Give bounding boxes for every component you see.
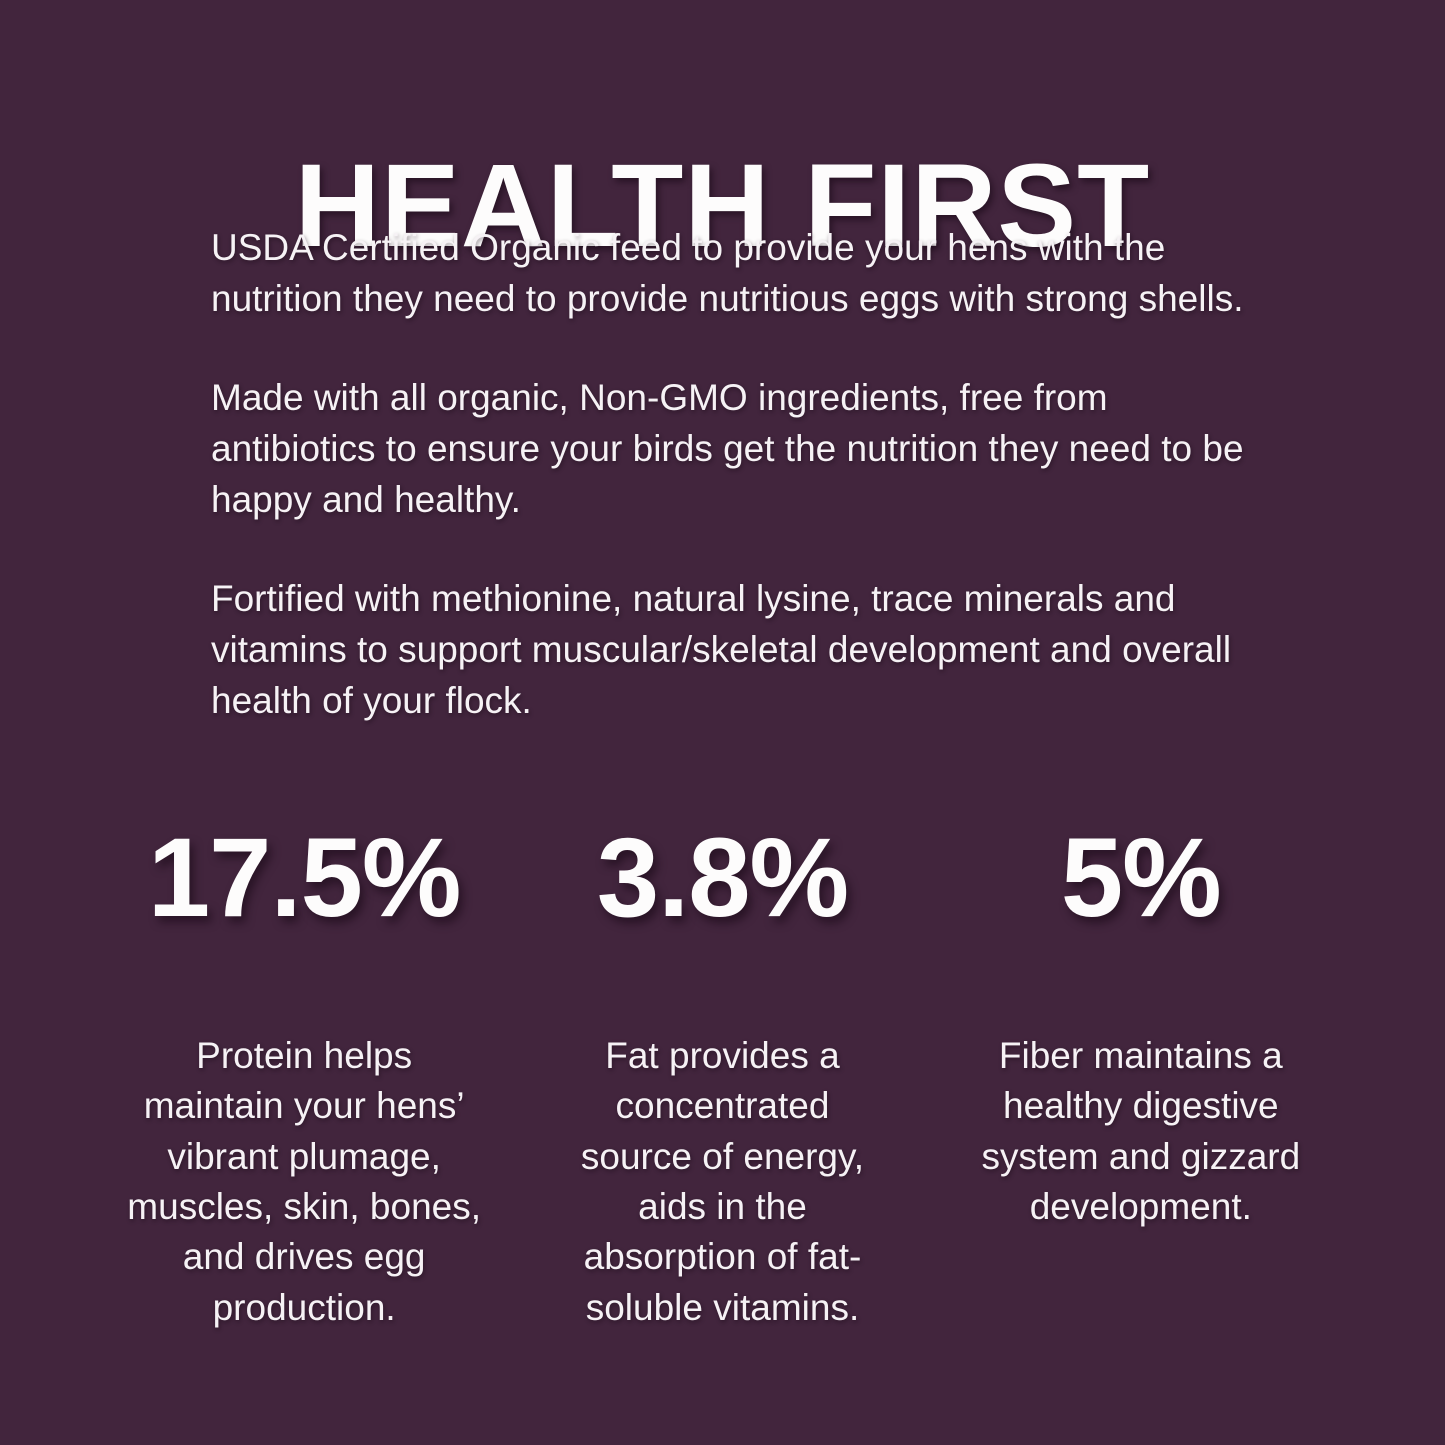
stat-value-fiber: 5% [1061, 822, 1221, 934]
stat-description-fiber: Fiber maintains a healthy digestive syst… [957, 1031, 1325, 1232]
stat-description-fat: Fat provides a concentrated source of en… [563, 1031, 881, 1333]
intro-paragraph-3: Fortified with methionine, natural lysin… [211, 573, 1251, 726]
nutrition-stats-row: 17.5% Protein helps maintain your hens’ … [95, 822, 1350, 1333]
stat-description-protein: Protein helps maintain your hens’ vibran… [122, 1031, 487, 1333]
stat-column-fiber: 5% Fiber maintains a healthy digestive s… [932, 822, 1350, 1232]
product-info-panel: HEALTH FIRST USDA Certified Organic feed… [0, 0, 1445, 1445]
stat-column-protein: 17.5% Protein helps maintain your hens’ … [95, 822, 513, 1333]
stat-value-protein: 17.5% [148, 822, 461, 934]
intro-paragraph-1: USDA Certified Organic feed to provide y… [211, 222, 1251, 324]
stat-value-fat: 3.8% [597, 822, 848, 934]
stat-column-fat: 3.8% Fat provides a concentrated source … [513, 822, 931, 1333]
intro-paragraph-2: Made with all organic, Non-GMO ingredien… [211, 372, 1251, 525]
intro-copy: USDA Certified Organic feed to provide y… [211, 222, 1251, 726]
